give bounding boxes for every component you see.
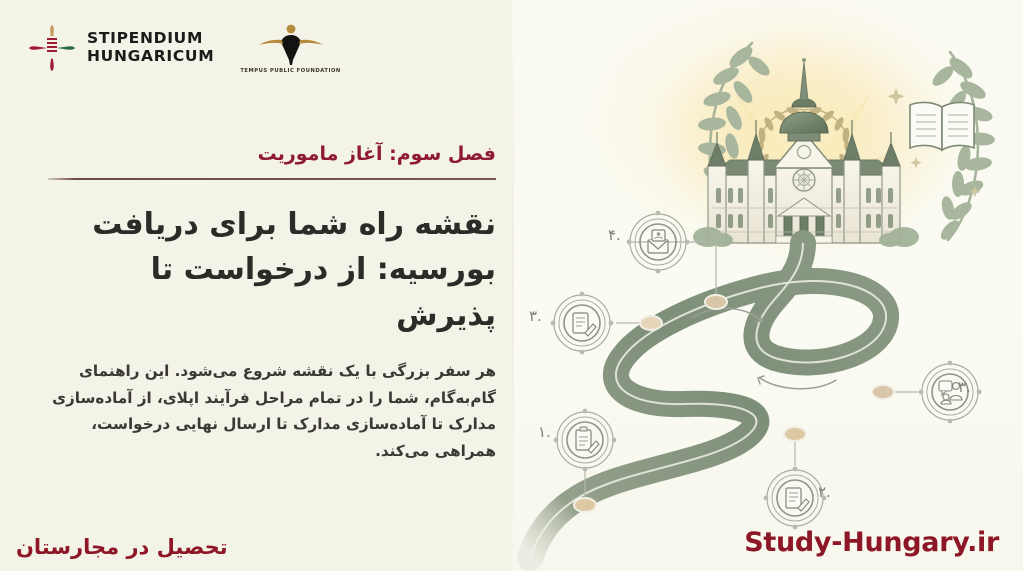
- envelope-acceptance-icon: [648, 230, 668, 253]
- stipendium-hungaricum-logo: STIPENDIUM HUNGARICUM: [28, 24, 214, 72]
- brand-logo-row: STIPENDIUM HUNGARICUM TEMPUS PUBLIC FOUN…: [28, 22, 341, 74]
- open-book-icon: [910, 102, 974, 150]
- document-pencil-icon: [786, 488, 809, 511]
- stipendium-line-1: STIPENDIUM: [87, 30, 214, 48]
- divider-rule: [48, 178, 496, 180]
- body-paragraph: هر سفر بزرگی با یک نقشه شروع می‌شود. این…: [48, 358, 496, 464]
- milestone-label-2: ۲.: [818, 483, 831, 501]
- tempus-public-foundation-logo: TEMPUS PUBLIC FOUNDATION: [240, 22, 340, 74]
- milestone-label-1: ۱.: [538, 423, 551, 441]
- document-pencil-icon: [573, 313, 596, 336]
- milestone-label-3-right: ۳.: [958, 378, 971, 396]
- stipendium-line-2: HUNGARICUM: [87, 48, 214, 66]
- page-title: نقشه راه شما برای دریافت بورسیه: از درخو…: [48, 202, 496, 339]
- footer-tagline: تحصیل در مجارستان: [16, 535, 228, 559]
- stipendium-wordmark: STIPENDIUM HUNGARICUM: [87, 30, 214, 66]
- milestone-label-3-left: ۳.: [529, 307, 542, 325]
- slide-canvas: ۴. ۳. ۳. ۱. ۲.: [0, 0, 1023, 571]
- roadmap-illustration: [512, 0, 1023, 571]
- clipboard-pencil-icon: [576, 427, 599, 453]
- tempus-caption: TEMPUS PUBLIC FOUNDATION: [240, 68, 340, 74]
- tempus-figure-mark: [258, 22, 324, 66]
- chapter-eyebrow: فصل سوم: آغاز ماموریت: [48, 140, 496, 169]
- milestone-node-2[interactable]: [764, 427, 827, 529]
- hungarian-coat-of-arms-petal-mark: [28, 24, 76, 72]
- illustration-panel: ۴. ۳. ۳. ۱. ۲.: [512, 0, 1023, 571]
- milestone-label-4: ۴.: [608, 226, 621, 244]
- footer-website[interactable]: Study-Hungary.ir: [744, 527, 999, 558]
- panel-divider: [512, 0, 514, 571]
- text-column: فصل سوم: آغاز ماموریت نقشه راه شما برای …: [32, 140, 510, 465]
